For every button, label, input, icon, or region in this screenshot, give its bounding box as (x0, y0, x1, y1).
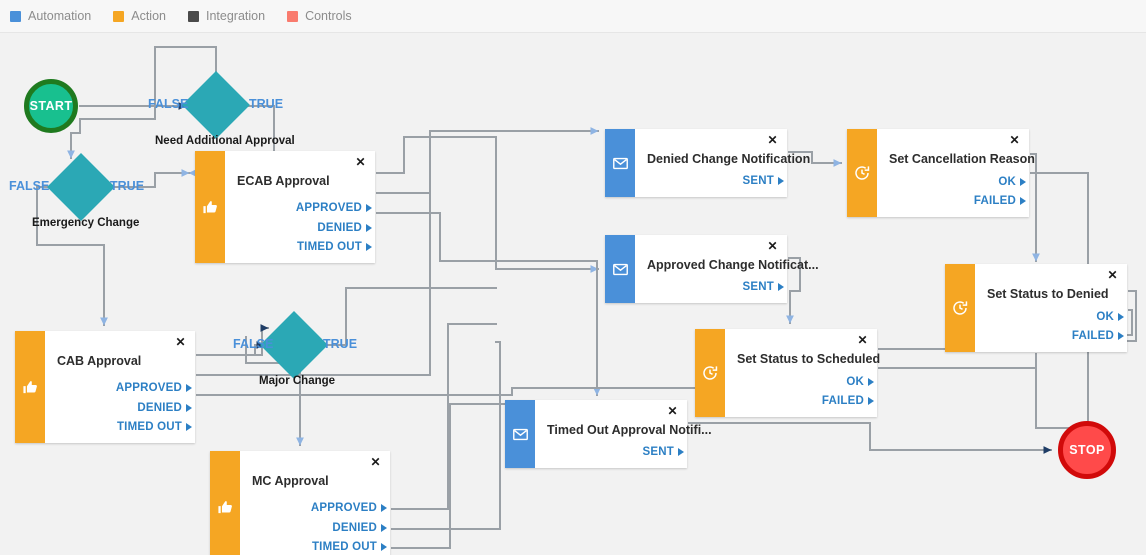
legend-item-controls: Controls (287, 9, 352, 23)
port-failed[interactable]: FAILED (822, 392, 877, 412)
close-icon[interactable]: ✕ (174, 336, 187, 349)
port-approved[interactable]: APPROVED (116, 379, 195, 399)
close-icon[interactable]: ✕ (766, 240, 779, 253)
node-title: Approved Change Notificat... (647, 258, 819, 272)
legend-label-automation: Automation (28, 9, 91, 23)
port-label: SENT (743, 281, 774, 293)
node-denied-change-notification[interactable]: ✕ Denied Change Notification SENT (605, 129, 787, 197)
port-arrow-icon (678, 448, 684, 456)
thumbs-up-icon (22, 379, 39, 396)
port-sent[interactable]: SENT (743, 278, 787, 298)
close-icon[interactable]: ✕ (1008, 134, 1021, 147)
thumbs-up-icon (202, 199, 219, 216)
node-title: Set Cancellation Reason (889, 152, 1035, 166)
branch-label-need-additional-approval-false: FALSE (148, 97, 188, 111)
port-arrow-icon (186, 384, 192, 392)
legend-label-controls: Controls (305, 9, 352, 23)
port-label: DENIED (317, 222, 362, 234)
port-arrow-icon (186, 404, 192, 412)
port-label: SENT (643, 446, 674, 458)
port-label: FAILED (974, 195, 1016, 207)
port-arrow-icon (1118, 313, 1124, 321)
port-arrow-icon (381, 543, 387, 551)
node-ports: OK FAILED (1072, 307, 1127, 346)
port-arrow-icon (1020, 197, 1026, 205)
node-type-strip-action (195, 151, 225, 263)
port-timed-out[interactable]: TIMED OUT (297, 238, 375, 258)
node-ports: SENT (643, 443, 687, 463)
close-icon[interactable]: ✕ (1106, 269, 1119, 282)
envelope-icon (612, 155, 629, 172)
node-title: Set Status to Denied (987, 287, 1109, 301)
diamond-shape (182, 71, 250, 139)
node-set-status-to-scheduled[interactable]: ✕ Set Status to Scheduled OK FAILED (695, 329, 877, 417)
port-approved[interactable]: APPROVED (311, 499, 390, 519)
node-type-strip-action (695, 329, 725, 417)
decision-label-need-additional-approval: Need Additional Approval (155, 135, 295, 147)
node-ports: OK FAILED (974, 172, 1029, 211)
port-denied[interactable]: DENIED (137, 398, 195, 418)
node-body: ✕ Set Status to Denied OK FAILED (975, 264, 1127, 352)
port-failed[interactable]: FAILED (974, 192, 1029, 212)
port-label: TIMED OUT (312, 541, 377, 553)
port-arrow-icon (1118, 332, 1124, 340)
port-arrow-icon (366, 243, 372, 251)
legend-item-integration: Integration (188, 9, 265, 23)
port-label: APPROVED (116, 382, 182, 394)
decision-label-emergency-change: Emergency Change (32, 217, 139, 229)
node-body: ✕ MC Approval APPROVED DENIED TIMED OUT (240, 451, 390, 555)
legend-item-action: Action (113, 9, 166, 23)
node-title: Timed Out Approval Notifi... (547, 423, 712, 437)
port-arrow-icon (1020, 178, 1026, 186)
port-arrow-icon (381, 524, 387, 532)
node-body: ✕ Denied Change Notification SENT (635, 129, 787, 197)
decision-label-major-change: Major Change (259, 375, 335, 387)
close-icon[interactable]: ✕ (856, 334, 869, 347)
node-type-strip-action (210, 451, 240, 555)
thumbs-up-icon (217, 499, 234, 516)
node-title: MC Approval (252, 474, 329, 488)
node-ports: OK FAILED (822, 372, 877, 411)
port-ok[interactable]: OK (998, 172, 1029, 192)
branch-label-emergency-change-true: TRUE (110, 179, 144, 193)
branch-label-need-additional-approval-true: TRUE (249, 97, 283, 111)
diagram-canvas[interactable]: START STOP Need Additional Approval FALS… (0, 33, 1146, 555)
node-body: ✕ Set Status to Scheduled OK FAILED (725, 329, 877, 417)
port-label: FAILED (822, 395, 864, 407)
port-ok[interactable]: OK (846, 372, 877, 392)
node-set-status-to-denied[interactable]: ✕ Set Status to Denied OK FAILED (945, 264, 1127, 352)
node-title: ECAB Approval (237, 174, 330, 188)
decision-major-change[interactable] (270, 321, 318, 369)
stop-node-label: STOP (1069, 443, 1104, 457)
port-arrow-icon (868, 378, 874, 386)
branch-label-major-change-false: FALSE (233, 337, 273, 351)
node-body: ✕ Timed Out Approval Notifi... SENT (535, 400, 687, 468)
port-label: TIMED OUT (117, 421, 182, 433)
legend-bar: Automation Action Integration Controls (0, 0, 1146, 33)
branch-label-major-change-true: TRUE (323, 337, 357, 351)
legend-swatch-controls (287, 11, 298, 22)
node-approved-change-notification[interactable]: ✕ Approved Change Notificat... SENT (605, 235, 787, 303)
close-icon[interactable]: ✕ (766, 134, 779, 147)
node-title: Set Status to Scheduled (737, 352, 880, 366)
port-label: FAILED (1072, 330, 1114, 342)
port-denied[interactable]: DENIED (317, 218, 375, 238)
node-ecab-approval[interactable]: ✕ ECAB Approval APPROVED DENIED TIMED OU… (195, 151, 375, 263)
node-type-strip-automation (605, 235, 635, 303)
legend-label-integration: Integration (206, 9, 265, 23)
close-icon[interactable]: ✕ (354, 156, 367, 169)
branch-label-emergency-change-false: FALSE (9, 179, 49, 193)
close-icon[interactable]: ✕ (369, 456, 382, 469)
port-sent[interactable]: SENT (743, 172, 787, 192)
port-timed-out[interactable]: TIMED OUT (312, 538, 390, 555)
node-type-strip-action (945, 264, 975, 352)
clock-reset-icon (701, 364, 719, 382)
decision-emergency-change[interactable] (57, 163, 105, 211)
node-ports: APPROVED DENIED TIMED OUT (296, 199, 375, 258)
port-label: TIMED OUT (297, 241, 362, 253)
start-node-label: START (30, 99, 73, 113)
legend-label-action: Action (131, 9, 166, 23)
port-arrow-icon (381, 504, 387, 512)
port-label: OK (1096, 311, 1114, 323)
node-ports: SENT (743, 278, 787, 298)
legend-item-automation: Automation (10, 9, 91, 23)
node-body: ✕ Approved Change Notificat... SENT (635, 235, 787, 303)
node-cab-approval[interactable]: ✕ CAB Approval APPROVED DENIED TIMED OUT (15, 331, 195, 443)
diamond-shape (47, 153, 115, 221)
port-label: DENIED (332, 522, 377, 534)
node-ports: APPROVED DENIED TIMED OUT (116, 379, 195, 438)
node-title: CAB Approval (57, 354, 141, 368)
envelope-icon (612, 261, 629, 278)
workflow-designer-canvas: Automation Action Integration Controls (0, 0, 1146, 555)
port-approved[interactable]: APPROVED (296, 199, 375, 219)
port-arrow-icon (186, 423, 192, 431)
legend-swatch-action (113, 11, 124, 22)
port-arrow-icon (366, 224, 372, 232)
port-arrow-icon (778, 283, 784, 291)
port-arrow-icon (868, 397, 874, 405)
legend-swatch-integration (188, 11, 199, 22)
node-type-strip-automation (605, 129, 635, 197)
port-timed-out[interactable]: TIMED OUT (117, 418, 195, 438)
clock-reset-icon (853, 164, 871, 182)
port-label: OK (998, 176, 1016, 188)
port-arrow-icon (778, 177, 784, 185)
node-set-cancellation-reason[interactable]: ✕ Set Cancellation Reason OK FAILED (847, 129, 1029, 217)
port-label: SENT (743, 175, 774, 187)
node-timed-out-approval-notification[interactable]: ✕ Timed Out Approval Notifi... SENT (505, 400, 687, 468)
legend-swatch-automation (10, 11, 21, 22)
port-ok[interactable]: OK (1096, 307, 1127, 327)
clock-reset-icon (951, 299, 969, 317)
node-type-strip-action (847, 129, 877, 217)
port-sent[interactable]: SENT (643, 443, 687, 463)
stop-node[interactable]: STOP (1058, 421, 1116, 479)
node-body: ✕ Set Cancellation Reason OK FAILED (877, 129, 1029, 217)
node-mc-approval[interactable]: ✕ MC Approval APPROVED DENIED TIMED OUT (210, 451, 390, 555)
port-label: OK (846, 376, 864, 388)
port-label: DENIED (137, 402, 182, 414)
node-title: Denied Change Notification (647, 152, 810, 166)
port-failed[interactable]: FAILED (1072, 327, 1127, 347)
node-type-strip-automation (505, 400, 535, 468)
port-arrow-icon (366, 204, 372, 212)
decision-need-additional-approval[interactable] (192, 81, 240, 129)
node-body: ✕ CAB Approval APPROVED DENIED TIMED OUT (45, 331, 195, 443)
node-type-strip-action (15, 331, 45, 443)
envelope-icon (512, 426, 529, 443)
port-label: APPROVED (296, 202, 362, 214)
port-denied[interactable]: DENIED (332, 518, 390, 538)
start-node[interactable]: START (24, 79, 78, 133)
node-body: ✕ ECAB Approval APPROVED DENIED TIMED OU… (225, 151, 375, 263)
close-icon[interactable]: ✕ (666, 405, 679, 418)
node-ports: APPROVED DENIED TIMED OUT (311, 499, 390, 555)
port-label: APPROVED (311, 502, 377, 514)
node-ports: SENT (743, 172, 787, 192)
